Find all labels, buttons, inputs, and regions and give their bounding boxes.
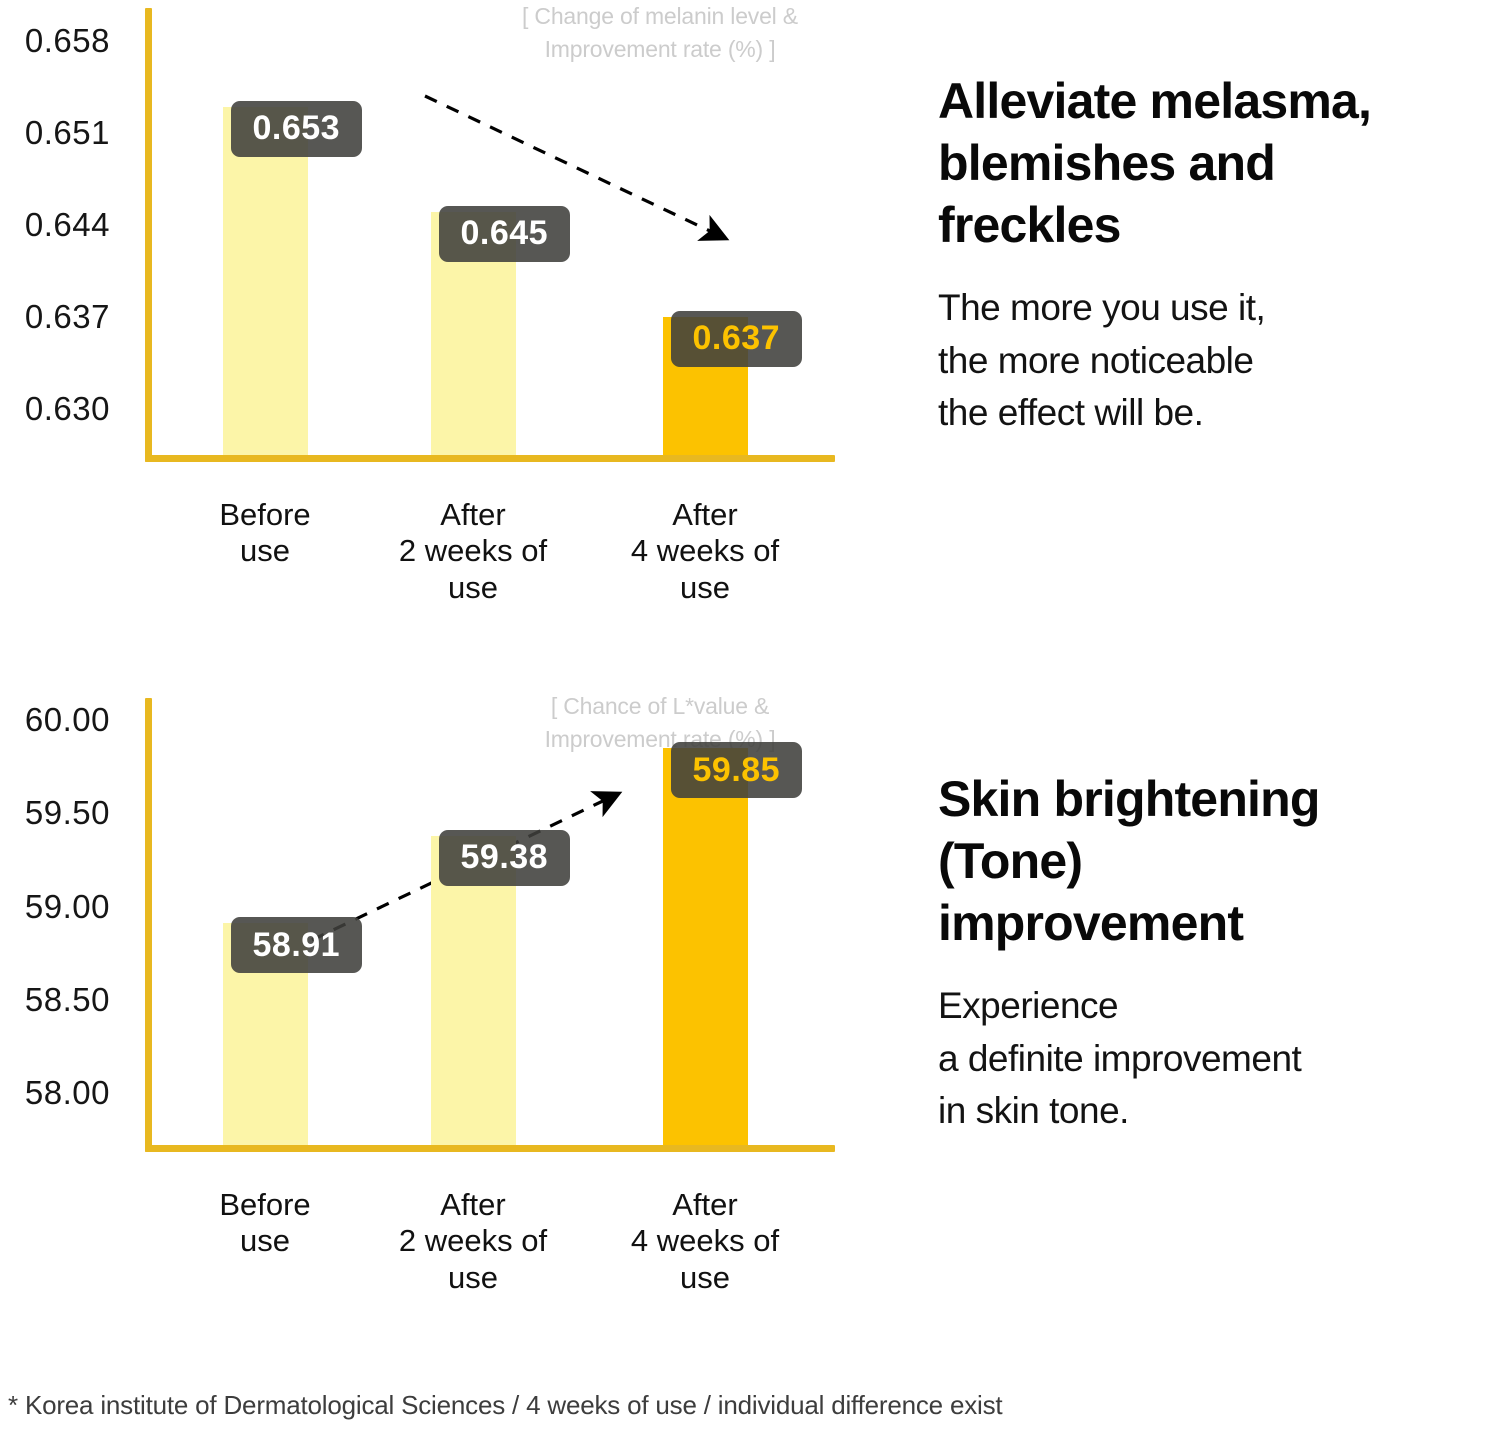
bar [663,748,748,1145]
bar-value-badge: 59.85 [671,742,803,798]
y-tick-label: 0.644 [25,206,110,244]
bar [223,107,308,455]
y-tick-label: 0.651 [25,114,110,152]
bar-value-badge: 0.637 [671,311,803,367]
x-category-label: After 4 weeks of use [595,1187,815,1296]
y-tick-label: 58.00 [25,1074,110,1112]
x-category-label: After 2 weeks of use [363,497,583,606]
bar-value-badge: 59.38 [439,830,571,886]
footnote: * Korea institute of Dermatological Scie… [8,1390,1002,1421]
copy-melanin: Alleviate melasma, blemishes and freckle… [938,70,1478,440]
y-axis-labels-tone: 60.0059.5059.0058.5058.00 [0,690,130,1145]
y-tick-label: 60.00 [25,701,110,739]
x-category-label: Before use [155,497,375,570]
y-tick-label: 58.50 [25,981,110,1019]
promo-infographic: [ Change of melanin level & Improvement … [0,0,1500,1447]
x-axis-line-melanin [145,455,835,462]
x-category-label: After 2 weeks of use [363,1187,583,1296]
x-category-label: After 4 weeks of use [595,497,815,606]
y-axis-line-melanin [145,8,152,462]
y-tick-label: 59.00 [25,888,110,926]
body-tone: Experience a definite improvement in ski… [938,980,1478,1138]
y-axis-line-tone [145,698,152,1152]
x-axis-line-tone [145,1145,835,1152]
chart-melanin: [ Change of melanin level & Improvement … [0,0,900,640]
x-category-label: Before use [155,1187,375,1260]
y-tick-label: 59.50 [25,794,110,832]
y-tick-label: 0.630 [25,390,110,428]
section-melanin: [ Change of melanin level & Improvement … [0,0,1500,660]
section-tone: [ Chance of L*value & Improvement rate (… [0,690,1500,1350]
body-melanin: The more you use it, the more noticeable… [938,282,1478,440]
y-tick-label: 0.637 [25,298,110,336]
copy-tone: Skin brightening (Tone) improvement Expe… [938,768,1478,1138]
y-axis-labels-melanin: 0.6580.6510.6440.6370.630 [0,0,130,455]
heading-melanin: Alleviate melasma, blemishes and freckle… [938,70,1478,256]
bar-value-badge: 58.91 [231,917,363,973]
chart-tone: [ Chance of L*value & Improvement rate (… [0,690,900,1330]
bar-value-badge: 0.645 [439,206,571,262]
y-tick-label: 0.658 [25,22,110,60]
heading-tone: Skin brightening (Tone) improvement [938,768,1478,954]
bar-value-badge: 0.653 [231,101,363,157]
